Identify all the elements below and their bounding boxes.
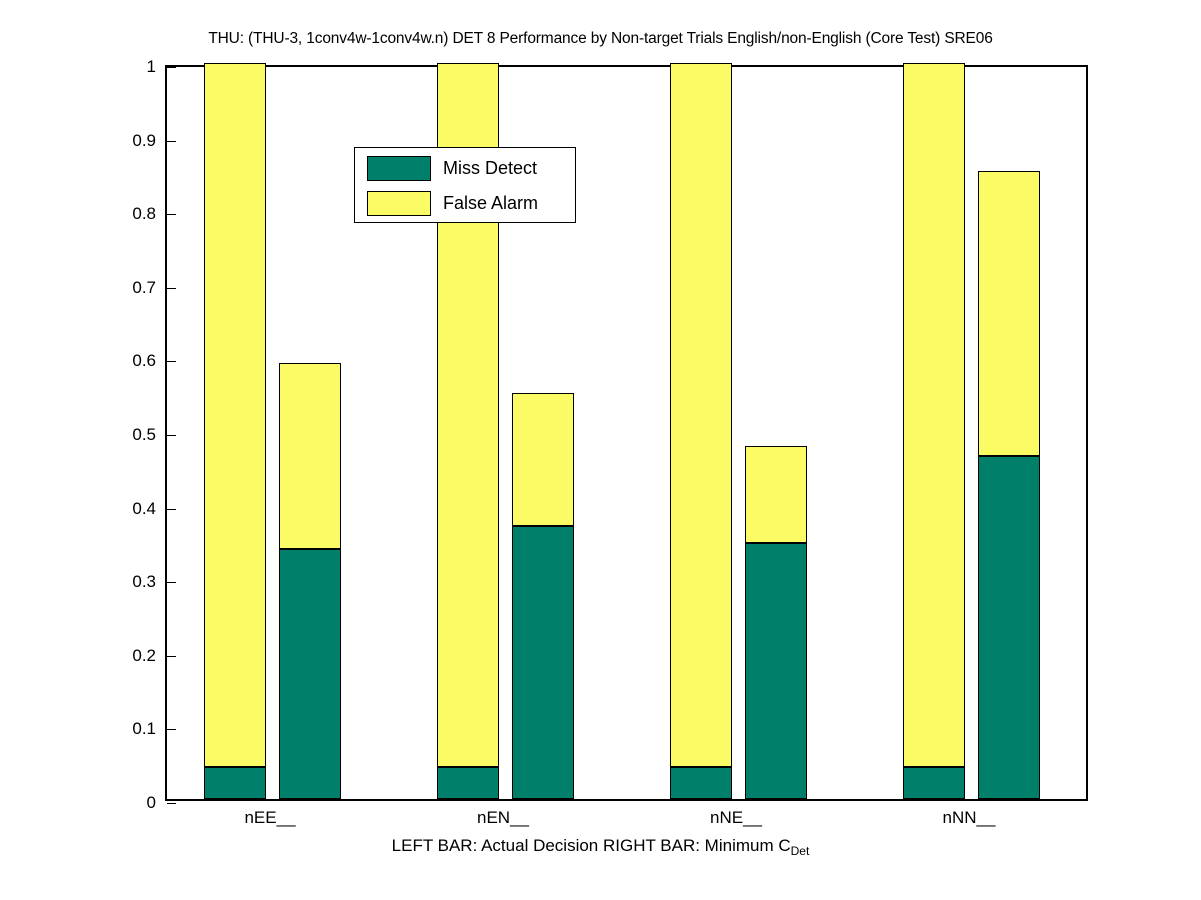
bar-segment-miss-detect <box>745 543 807 799</box>
y-axis-tick <box>167 67 176 68</box>
legend-label-miss-detect: Miss Detect <box>443 158 537 179</box>
legend-swatch-miss-detect <box>367 156 431 181</box>
bar-nNN-actual <box>903 63 965 799</box>
x-axis-caption: LEFT BAR: Actual Decision RIGHT BAR: Min… <box>0 836 1201 856</box>
bars-layer <box>167 67 1086 799</box>
y-axis-tick <box>167 803 176 804</box>
y-axis-tick <box>167 435 176 436</box>
bar-nNE-actual <box>670 63 732 799</box>
bar-segment-false-alarm <box>903 63 965 767</box>
y-axis-tick <box>167 141 176 142</box>
y-axis-tick <box>167 214 176 215</box>
y-axis-tick-label: 0.6 <box>132 351 156 371</box>
y-axis-tick-label: 0.8 <box>132 204 156 224</box>
x-axis-label-nEE: nEE__ <box>244 808 295 828</box>
x-axis-label-nEN: nEN__ <box>477 808 529 828</box>
y-axis-tick <box>167 288 176 289</box>
chart-figure: THU: (THU-3, 1conv4w-1conv4w.n) DET 8 Pe… <box>0 0 1201 900</box>
bar-segment-false-alarm <box>745 446 807 543</box>
y-axis-tick-label: 0.1 <box>132 719 156 739</box>
plot-area: 00.10.20.30.40.50.60.70.80.91 Miss Detec… <box>165 65 1088 801</box>
y-axis-tick <box>167 729 176 730</box>
x-axis-caption-subscript: Det <box>791 844 810 858</box>
bar-nNN-minimum <box>978 171 1040 799</box>
y-axis-tick-label: 0.5 <box>132 425 156 445</box>
y-axis-tick-label: 1 <box>147 57 156 77</box>
bar-segment-false-alarm <box>512 393 574 526</box>
y-axis-tick-label: 0.3 <box>132 572 156 592</box>
bar-segment-miss-detect <box>204 767 266 799</box>
legend-swatch-false-alarm <box>367 191 431 216</box>
bar-segment-false-alarm <box>204 63 266 767</box>
y-axis-tick <box>167 361 176 362</box>
bar-segment-miss-detect <box>978 456 1040 799</box>
bar-nEE-actual <box>204 63 266 799</box>
bar-nNE-minimum <box>745 446 807 799</box>
bar-nEN-minimum <box>512 393 574 799</box>
x-axis-label-nNN: nNN__ <box>943 808 996 828</box>
bar-segment-false-alarm <box>978 171 1040 456</box>
bar-segment-miss-detect <box>279 549 341 799</box>
bar-segment-false-alarm <box>279 363 341 548</box>
y-axis-tick-label: 0.9 <box>132 131 156 151</box>
y-axis-tick-label: 0.7 <box>132 278 156 298</box>
bar-segment-miss-detect <box>903 767 965 799</box>
bar-segment-miss-detect <box>512 526 574 799</box>
bar-segment-miss-detect <box>437 767 499 799</box>
y-axis-tick-label: 0.2 <box>132 646 156 666</box>
legend-entry-miss-detect: Miss Detect <box>355 151 575 185</box>
x-axis-label-nNE: nNE__ <box>710 808 762 828</box>
bar-segment-miss-detect <box>670 767 732 799</box>
y-axis-tick-label: 0.4 <box>132 499 156 519</box>
y-axis-tick-label: 0 <box>147 793 156 813</box>
legend-label-false-alarm: False Alarm <box>443 193 538 214</box>
y-axis-tick <box>167 582 176 583</box>
y-axis-tick <box>167 656 176 657</box>
bar-segment-false-alarm <box>670 63 732 767</box>
chart-legend: Miss Detect False Alarm <box>354 147 576 223</box>
chart-title: THU: (THU-3, 1conv4w-1conv4w.n) DET 8 Pe… <box>0 30 1201 48</box>
bar-nEE-minimum <box>279 363 341 799</box>
y-axis-tick <box>167 509 176 510</box>
legend-entry-false-alarm: False Alarm <box>355 186 575 220</box>
